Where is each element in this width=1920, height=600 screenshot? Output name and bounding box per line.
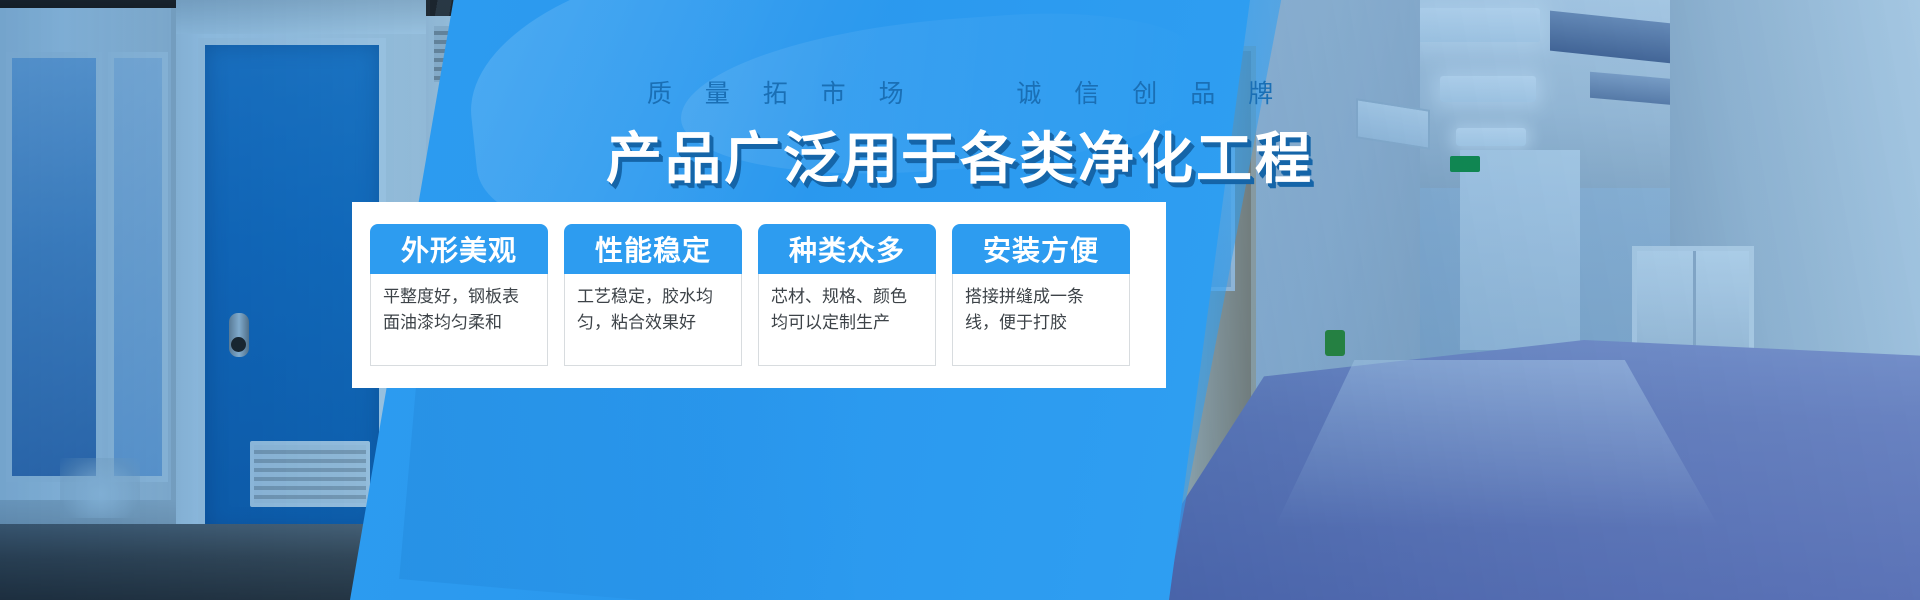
banner-subtitle: 质 量 拓 市 场 诚 信 创 品 牌 [0,74,1920,110]
feature-card[interactable]: 安装方便 搭接拼缝成一条线，便于打胶 [952,224,1130,366]
banner-title: 产品广泛用于各类净化工程 [0,114,1920,195]
feature-card-title: 安装方便 [952,224,1130,274]
feature-card-body: 工艺稳定，胶水均匀，粘合效果好 [564,274,742,366]
feature-card-title: 性能稳定 [564,224,742,274]
feature-card[interactable]: 种类众多 芯材、规格、颜色均可以定制生产 [758,224,936,366]
feature-card-title: 种类众多 [758,224,936,274]
promo-banner: 质 量 拓 市 场 诚 信 创 品 牌 产品广泛用于各类净化工程 外形美观 平整… [0,0,1920,600]
feature-card[interactable]: 外形美观 平整度好，钢板表面油漆均匀柔和 [370,224,548,366]
feature-card-body: 芯材、规格、颜色均可以定制生产 [758,274,936,366]
feature-card-body: 平整度好，钢板表面油漆均匀柔和 [370,274,548,366]
feature-card[interactable]: 性能稳定 工艺稳定，胶水均匀，粘合效果好 [564,224,742,366]
feature-cards-container: 外形美观 平整度好，钢板表面油漆均匀柔和 性能稳定 工艺稳定，胶水均匀，粘合效果… [352,202,1166,388]
feature-card-title: 外形美观 [370,224,548,274]
feature-card-body: 搭接拼缝成一条线，便于打胶 [952,274,1130,366]
